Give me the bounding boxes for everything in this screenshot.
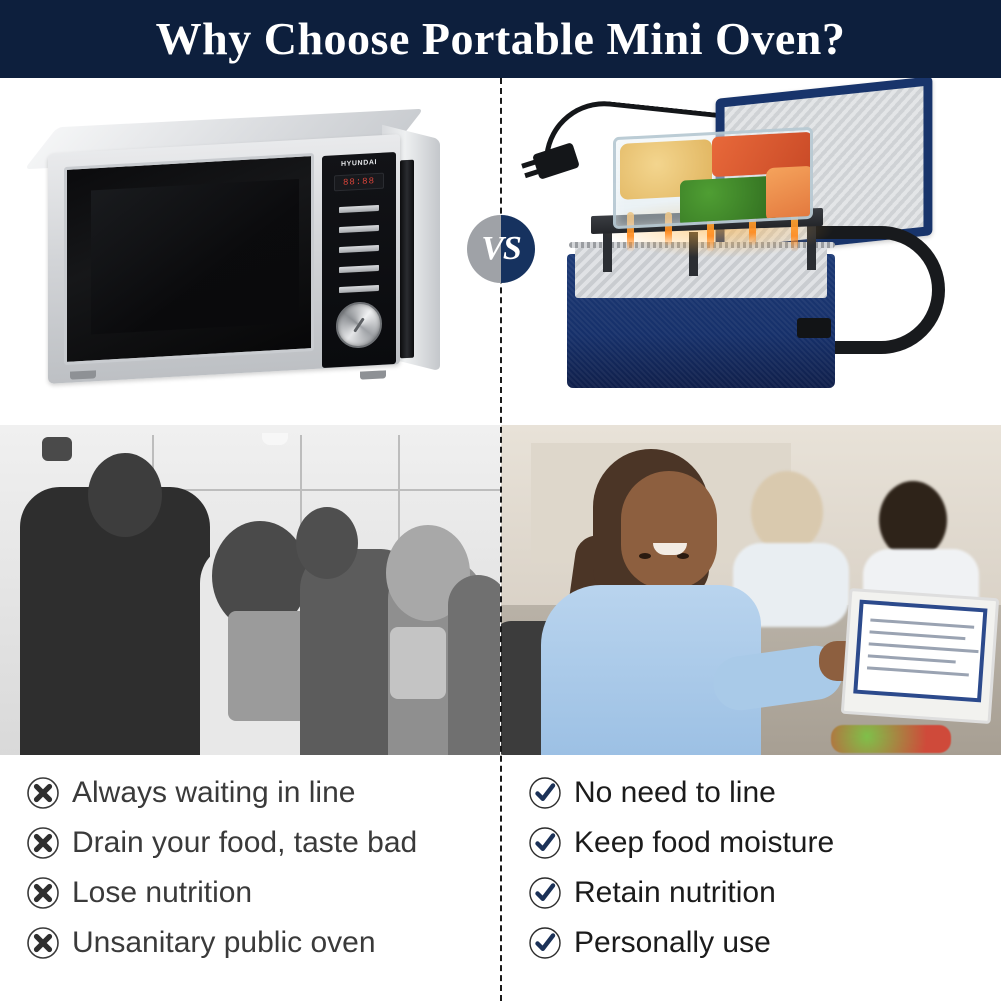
microwave-foot [70,370,96,379]
food-shrimp [766,166,813,223]
cross-circle-icon [26,926,60,960]
list-item-label: Always waiting in line [72,778,355,808]
benefits-list: No need to line Keep food moisture Retai… [528,768,998,968]
laptop [841,588,999,724]
list-item: Always waiting in line [26,768,496,818]
microwave-button[interactable] [339,285,379,293]
microwave-product-cell: HYUNDAI 88:88 [0,78,500,425]
woman-face [621,471,717,589]
vs-badge-label: VS [467,215,535,283]
list-item-label: Personally use [574,928,771,958]
food-broccoli [680,176,776,227]
microwave-door [64,153,314,365]
list-item: Retain nutrition [528,868,998,918]
list-item-label: Drain your food, taste bad [72,828,417,858]
laptop-screen [853,600,987,703]
person-head [296,507,358,579]
security-camera [42,437,72,461]
list-item: No need to line [528,768,998,818]
strap-buckle [797,318,831,338]
microwave-foot [360,370,386,379]
microwave-button[interactable] [339,245,379,253]
check-circle-icon [528,876,562,910]
microwave-button[interactable] [339,225,379,233]
check-circle-icon [528,776,562,810]
list-item: Unsanitary public oven [26,918,496,968]
portable-oven-product-cell [501,78,1001,425]
microwave-display: 88:88 [334,173,384,192]
check-circle-icon [528,926,562,960]
microwave-door-handle [400,160,414,359]
queue-photo [0,425,500,755]
person-head [88,453,162,537]
microwave-illustration: HYUNDAI 88:88 [30,108,440,393]
cross-circle-icon [26,826,60,860]
portable-oven-illustration [529,86,981,416]
cross-circle-icon [26,876,60,910]
header-banner: Why Choose Portable Mini Oven? [0,0,1001,78]
list-item-label: No need to line [574,778,776,808]
list-item: Personally use [528,918,998,968]
list-item-label: Keep food moisture [574,828,834,858]
handbag [390,627,446,699]
coworker [751,471,823,553]
cross-circle-icon [26,776,60,810]
check-circle-icon [528,826,562,860]
microwave-dial-knob[interactable] [336,301,382,350]
list-item-label: Lose nutrition [72,878,252,908]
list-item: Lose nutrition [26,868,496,918]
salad-plate [831,725,951,753]
ceiling-light [262,433,288,445]
microwave-button[interactable] [339,265,379,273]
person-in-line [448,575,500,755]
infographic-page: Why Choose Portable Mini Oven? HYUNDAI 8… [0,0,1001,1001]
microwave-brand-label: HYUNDAI [328,158,390,168]
microwave-control-panel: HYUNDAI 88:88 [322,152,396,368]
drawbacks-list: Always waiting in line Drain your food, … [26,768,496,968]
list-item: Keep food moisture [528,818,998,868]
office-lunch-photo [501,425,1001,755]
list-item-label: Unsanitary public oven [72,928,376,958]
coworker [879,481,947,559]
microwave-button[interactable] [339,205,379,213]
power-plug-icon [532,142,580,180]
list-item-label: Retain nutrition [574,878,776,908]
glass-meal-container [613,127,813,229]
microwave-door-glass [91,179,299,335]
vs-badge: VS [467,215,535,283]
list-item: Drain your food, taste bad [26,818,496,868]
page-title: Why Choose Portable Mini Oven? [156,16,846,62]
